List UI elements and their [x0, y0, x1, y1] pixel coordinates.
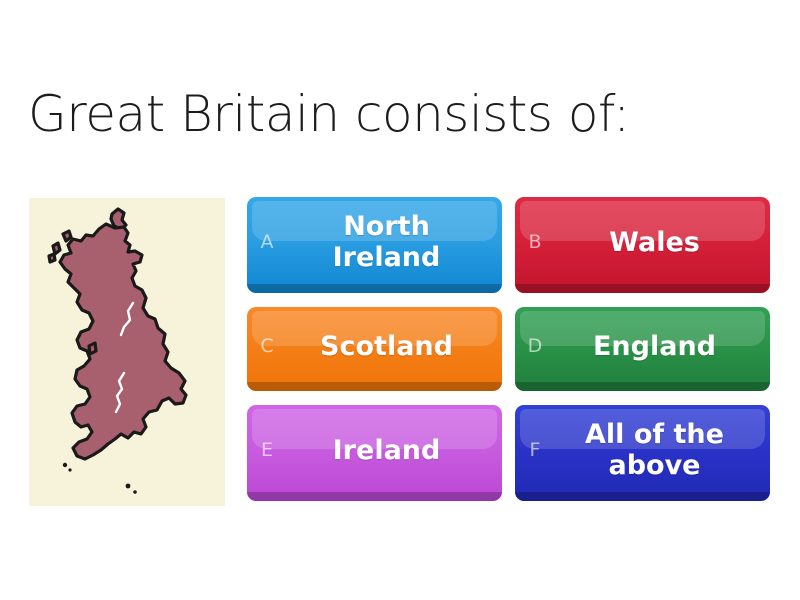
page-title: Great Britain consists of:: [28, 84, 772, 144]
answer-option-f[interactable]: F All of the above: [515, 405, 770, 501]
answer-letter-b: B: [515, 231, 555, 253]
quiz-slide: Great Britain consists of:: [0, 0, 800, 600]
answer-label-b: Wales: [555, 227, 760, 258]
answer-letter-c: C: [247, 335, 287, 357]
answer-option-d[interactable]: D England: [515, 307, 770, 391]
answer-letter-f: F: [515, 439, 555, 461]
great-britain-map-icon: [29, 198, 225, 506]
map-of-great-britain-image: [29, 198, 225, 506]
answer-label-e: Ireland: [287, 435, 492, 466]
answer-letter-a: A: [247, 231, 287, 253]
answer-label-a: North Ireland: [287, 211, 492, 273]
answer-option-b[interactable]: B Wales: [515, 197, 770, 293]
answer-option-c[interactable]: C Scotland: [247, 307, 502, 391]
answer-option-e[interactable]: E Ireland: [247, 405, 502, 501]
answer-letter-e: E: [247, 439, 287, 461]
answer-letter-d: D: [515, 335, 555, 357]
answer-label-d: England: [555, 331, 760, 362]
answer-option-a[interactable]: A North Ireland: [247, 197, 502, 293]
answer-label-c: Scotland: [287, 331, 492, 362]
answer-options-grid: A North Ireland B Wales C Scotland D Eng…: [247, 197, 770, 507]
answer-label-f: All of the above: [555, 419, 760, 481]
